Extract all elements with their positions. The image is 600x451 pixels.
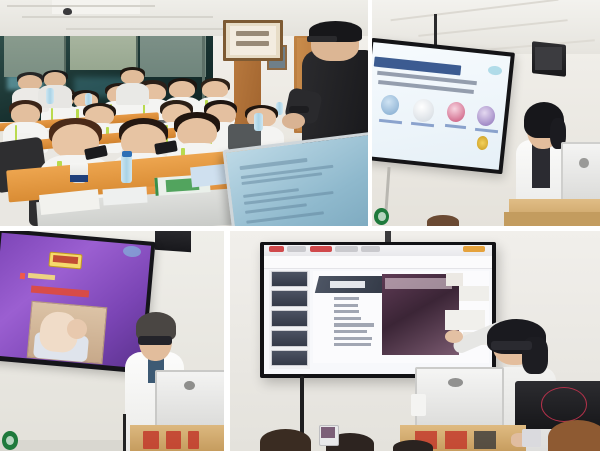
slide-bullet-line [334,337,373,340]
ceiling-camera-icon [63,8,72,15]
panel-case-presentation[interactable] [0,231,224,451]
smartphone-screen [321,427,335,438]
podium-text-char [166,431,182,449]
water-bottle [46,88,54,104]
app-ribbon-toolbar [264,256,491,268]
app-tab [335,246,357,251]
calligraphy-text-line [236,41,269,47]
audience-head [427,215,459,226]
slide-white-block [459,286,489,301]
podium-text-char [188,431,199,449]
monitor-logo [579,158,588,168]
presenter-monitor [561,142,600,200]
bottle-cap [122,151,132,156]
slide-thumbnail [271,271,308,288]
slide-bullet-line [334,310,360,313]
app-tab [361,246,380,251]
slide-bullet-line [334,304,358,307]
problem-analysis-photo [230,231,600,451]
slide-thumbnail [271,290,308,307]
audience-head [393,440,434,451]
water-bottle [411,394,426,416]
slide-thumbnail [271,310,308,327]
glasses-icon [491,341,532,350]
panel-presentation-diagnosis-flow[interactable] [372,0,600,226]
water-bottle [254,113,263,131]
photo-collage [0,0,600,451]
glasses-icon [307,36,336,42]
coffee-cup-band [70,175,88,182]
smartphone [522,429,541,447]
wooden-desk-front [504,212,600,226]
presenter-monitor [415,367,504,430]
app-tab-active [310,246,332,251]
cable [123,414,126,451]
diagnosis-flow-photo [372,0,600,226]
case-presentation-photo [0,231,224,451]
window-blind-2 [70,32,136,70]
ceiling-grid-line [7,5,154,7]
panel-problem-analysis[interactable] [230,231,600,451]
slide-bullet-line [334,297,360,300]
audience-head [260,429,312,451]
app-tab [269,246,284,251]
green-corner-marker-inner [378,212,386,221]
ceiling-grid-line [22,16,213,18]
speaker-grille [535,47,562,70]
app-tab [287,246,306,251]
slide-photo-title [385,278,452,289]
panel-classroom-audience[interactable] [0,0,368,226]
notebook-paper [103,186,148,205]
water-bottle-foreground [121,154,132,183]
audience-head [548,420,600,451]
speaker-hand [282,113,306,129]
ceiling-speaker [155,231,191,252]
slide-bullet-line [334,330,367,333]
podium-text-char [143,431,159,449]
slide-bullet-line [334,343,371,346]
wristwatch [289,106,309,113]
presenter-inner-top [532,142,550,187]
slide-bullet-marker [20,273,26,279]
slide-bullet-line [334,323,375,326]
window-blind-3 [140,32,206,77]
slide-title-text [330,281,365,288]
attendee [121,70,143,104]
podium-text-char [474,431,496,449]
slide-white-block [445,310,486,330]
slide-thumbnail [271,350,308,367]
classroom-photo [0,0,368,226]
green-corner-marker-inner [6,436,14,445]
slide-thumbnail-active [271,330,308,347]
wall-baseboard [0,440,125,451]
app-tab-highlight [463,246,485,251]
ceiling-grid-line [66,28,235,30]
calligraphy-text-line [236,31,269,37]
device-ring-logo [541,387,587,422]
slide-white-block [446,273,463,286]
podium-text-char [445,431,467,449]
glasses-icon [138,336,173,345]
slide-bullet-line [334,317,362,320]
